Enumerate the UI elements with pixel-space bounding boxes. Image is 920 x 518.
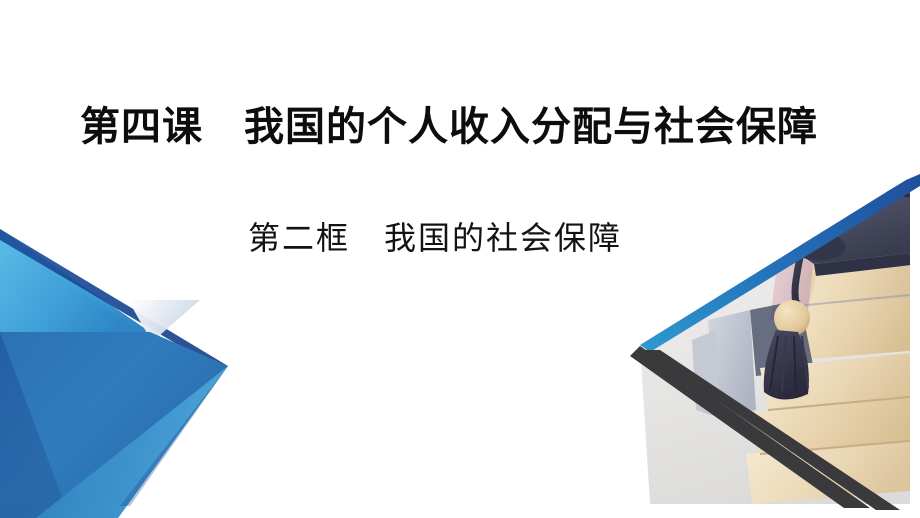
title-block: 第四课 我国的个人收入分配与社会保障 第二框 我国的社会保障 (0, 0, 920, 518)
page-subtitle: 第二框 我国的社会保障 (248, 218, 622, 260)
page-title: 第四课 我国的个人收入分配与社会保障 (80, 102, 818, 152)
presentation-slide: 第四课 我国的个人收入分配与社会保障 第二框 我国的社会保障 (0, 0, 920, 518)
